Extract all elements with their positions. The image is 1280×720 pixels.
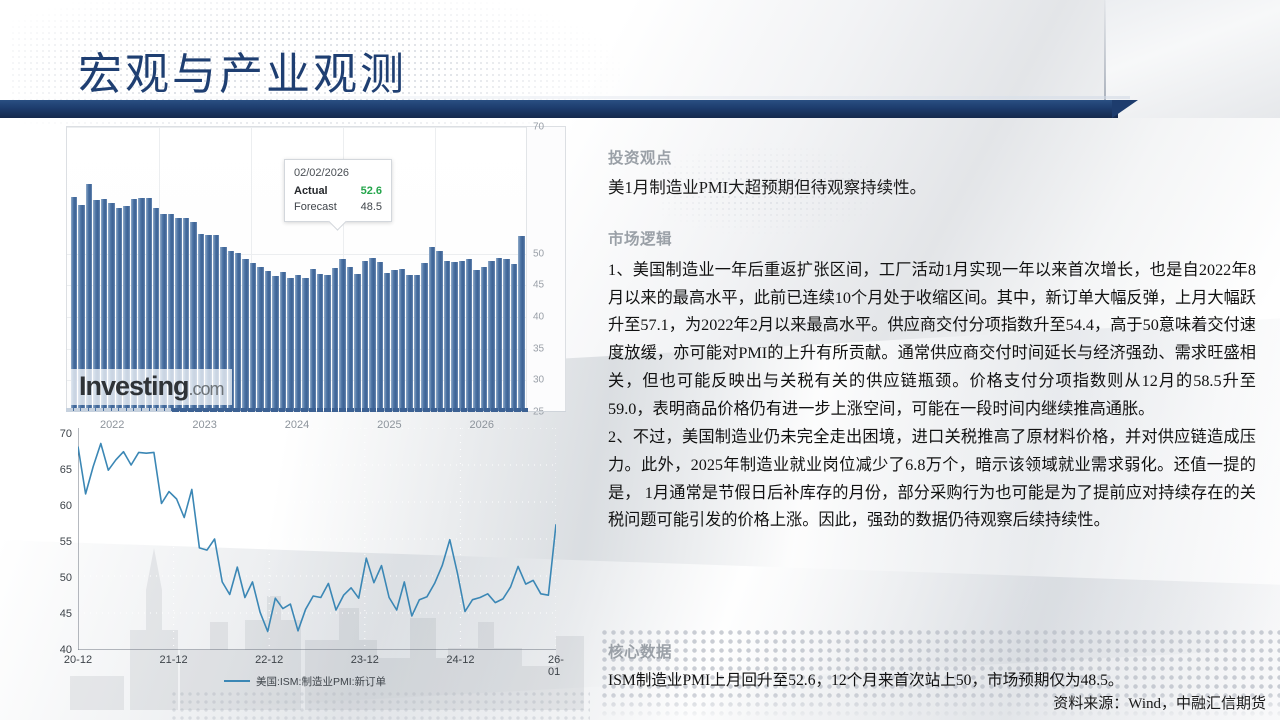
header-accent-band-tip <box>1112 100 1138 118</box>
investment-view-heading: 投资观点 <box>608 146 1256 168</box>
ism-new-orders-line-chart[interactable]: 40455055606570 20-1221-1222-1223-1224-12… <box>40 422 570 692</box>
bar-y-tick: 70 <box>533 122 544 133</box>
market-logic-paragraph-1: 1、美国制造业一年后重返扩张区间，工厂活动1月实现一年以来首次增长，也是自202… <box>608 257 1256 424</box>
line-y-tick: 60 <box>60 500 72 512</box>
line-x-tick: 21-12 <box>160 654 188 666</box>
watermark-domain: .com <box>189 379 224 399</box>
line-y-tick: 45 <box>60 608 72 620</box>
line-chart-legend: 美国:ISM:制造业PMI:新订单 <box>40 672 570 690</box>
line-chart-svg <box>78 428 556 650</box>
investment-view-text: 美1月制造业PMI大超预期但待观察持续性。 <box>608 176 1256 201</box>
line-x-tick: 23-12 <box>351 654 379 666</box>
slide-root: 宏观与产业观测 70504540353025 02/02/2026 Actual… <box>0 0 1280 720</box>
core-data-heading: 核心数据 <box>608 640 1268 662</box>
bar-y-tick: 50 <box>533 248 544 259</box>
line-x-tick: 24-12 <box>446 654 474 666</box>
tooltip-actual-label: Actual <box>294 185 328 197</box>
bar-y-tick: 45 <box>533 280 544 291</box>
line-chart-y-axis: 40455055606570 <box>40 428 76 650</box>
watermark-text: Investing <box>79 371 189 401</box>
header-accent-band <box>0 100 1118 118</box>
line-y-tick: 50 <box>60 572 72 584</box>
source-note: 资料来源：Wind，中融汇信期货 <box>1053 692 1266 713</box>
charts-column: 70504540353025 02/02/2026 Actual 52.6 Fo… <box>40 126 570 692</box>
line-chart-x-axis: 20-1221-1222-1223-1224-1226-01 <box>78 654 556 670</box>
header-divider <box>1104 0 1106 100</box>
market-logic-paragraph-2: 2、不过，美国制造业仍未完全走出困境，进口关税推高了原材料价格，并对供应链造成压… <box>608 424 1256 535</box>
tooltip-actual-row: Actual 52.6 <box>294 185 382 197</box>
tooltip-forecast-label: Forecast <box>294 201 337 213</box>
line-chart-plot-area <box>78 428 556 650</box>
page-title: 宏观与产业观测 <box>78 38 407 102</box>
tooltip-actual-value: 52.6 <box>361 185 382 197</box>
commentary-column: 投资观点 美1月制造业PMI大超预期但待观察持续性。 市场逻辑 1、美国制造业一… <box>608 146 1256 535</box>
bar-chart-x-ticks <box>66 408 528 412</box>
core-data-block: 核心数据 ISM制造业PMI上月回升至52.6，12个月来首次站上50，市场预期… <box>608 640 1268 692</box>
slide-header: 宏观与产业观测 <box>0 0 1280 122</box>
bar-y-tick: 30 <box>533 375 544 386</box>
bar-chart-y-axis: 70504540353025 <box>526 127 565 411</box>
legend-swatch <box>224 680 250 682</box>
tooltip-forecast-value: 48.5 <box>361 201 382 213</box>
bar-chart-tooltip: 02/02/2026 Actual 52.6 Forecast 48.5 <box>284 159 392 222</box>
line-x-tick: 22-12 <box>255 654 283 666</box>
bar-y-tick: 35 <box>533 343 544 354</box>
line-y-tick: 65 <box>60 464 72 476</box>
investing-com-watermark: Investing.com <box>71 369 232 405</box>
core-data-text: ISM制造业PMI上月回升至52.6，12个月来首次站上50，市场预期仅为48.… <box>608 670 1268 692</box>
tooltip-date: 02/02/2026 <box>294 167 382 179</box>
tooltip-forecast-row: Forecast 48.5 <box>294 201 382 213</box>
legend-label: 美国:ISM:制造业PMI:新订单 <box>256 674 386 689</box>
line-y-tick: 55 <box>60 536 72 548</box>
line-x-tick: 20-12 <box>64 654 92 666</box>
ism-pmi-bar-chart[interactable]: 70504540353025 02/02/2026 Actual 52.6 Fo… <box>66 126 566 411</box>
market-logic-heading: 市场逻辑 <box>608 227 1256 249</box>
line-y-tick: 70 <box>60 428 72 440</box>
bar-y-tick: 40 <box>533 312 544 323</box>
